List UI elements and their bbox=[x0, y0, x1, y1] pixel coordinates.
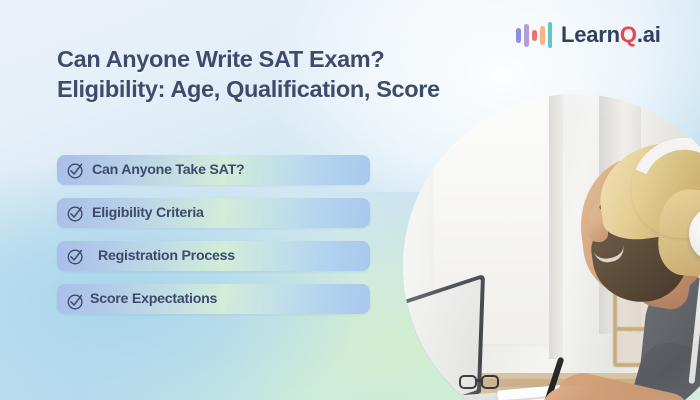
circled-check-icon bbox=[66, 247, 85, 266]
logo-bar-teal bbox=[548, 22, 552, 48]
logo-bar-periwinkle bbox=[516, 28, 521, 43]
learnq-logo[interactable]: LearnQ.ai bbox=[516, 22, 661, 48]
photo-eyeglasses bbox=[459, 375, 505, 391]
photo-window-frame bbox=[549, 94, 563, 359]
circled-check-icon bbox=[66, 292, 85, 311]
sat-eligibility-banner: LearnQ.ai Can Anyone Write SAT Exam? Eli… bbox=[0, 0, 700, 400]
page-title: Can Anyone Write SAT Exam? Eligibility: … bbox=[57, 44, 457, 105]
list-item[interactable]: Can Anyone Take SAT? bbox=[57, 155, 370, 185]
logo-bar-red bbox=[532, 30, 537, 41]
list-item[interactable]: Registration Process bbox=[57, 241, 370, 271]
circled-check-icon bbox=[66, 161, 85, 180]
list-item-label: Score Expectations bbox=[90, 291, 217, 307]
list-item-label: Registration Process bbox=[98, 248, 235, 264]
logo-word-learn: Learn bbox=[561, 22, 620, 47]
hero-photo bbox=[403, 94, 700, 400]
list-item-label: Can Anyone Take SAT? bbox=[92, 162, 244, 178]
list-item-label: Eligibility Criteria bbox=[92, 205, 204, 221]
logo-letter-q: Q bbox=[620, 22, 637, 47]
photo-eyeglass-lens-right bbox=[481, 375, 499, 389]
list-item[interactable]: Eligibility Criteria bbox=[57, 198, 370, 228]
logo-wordmark: LearnQ.ai bbox=[561, 22, 661, 48]
list-item[interactable]: Score Expectations bbox=[57, 284, 370, 314]
logo-suffix-ai: .ai bbox=[637, 22, 661, 47]
logo-bar-purple bbox=[524, 24, 529, 47]
circled-check-icon bbox=[66, 204, 85, 223]
checklist: Can Anyone Take SAT? Eligibility Criteri… bbox=[57, 155, 370, 314]
photo-eyeglass-lens-left bbox=[459, 375, 477, 389]
logo-bar-orange bbox=[540, 26, 545, 45]
hero-photo-scene bbox=[403, 94, 700, 400]
logo-waveform-icon bbox=[516, 22, 552, 48]
